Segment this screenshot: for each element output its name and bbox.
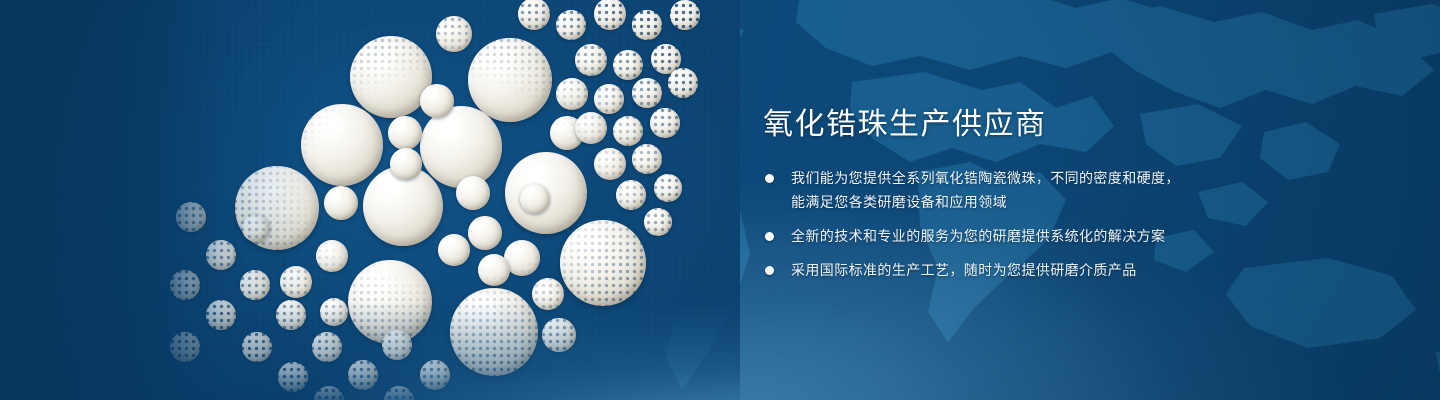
list-item-line: 采用国际标准的生产工艺，随时为您提供研磨介质产品	[791, 259, 1403, 282]
list-item-line: 我们能为您提供全系列氧化锆陶瓷微珠，不同的密度和硬度，	[791, 167, 1403, 190]
feature-list: 我们能为您提供全系列氧化锆陶瓷微珠，不同的密度和硬度， 能满足您各类研磨设备和应…	[763, 167, 1403, 282]
list-item: 全新的技术和专业的服务为您的研磨提供系统化的解决方案	[763, 225, 1403, 248]
banner-text-block: 氧化锆珠生产供应商 我们能为您提供全系列氧化锆陶瓷微珠，不同的密度和硬度， 能满…	[763, 108, 1403, 282]
bullet-dot-icon	[765, 232, 774, 241]
bullet-dot-icon	[765, 174, 774, 183]
list-item: 我们能为您提供全系列氧化锆陶瓷微珠，不同的密度和硬度， 能满足您各类研磨设备和应…	[763, 167, 1403, 214]
list-item: 采用国际标准的生产工艺，随时为您提供研磨介质产品	[763, 259, 1403, 282]
hero-banner: 氧化锆珠生产供应商 我们能为您提供全系列氧化锆陶瓷微珠，不同的密度和硬度， 能满…	[0, 0, 1440, 400]
halftone-dot-fade	[120, 0, 740, 400]
zirconia-beads-photo	[120, 0, 740, 400]
bullet-dot-icon	[765, 266, 774, 275]
list-item-line: 全新的技术和专业的服务为您的研磨提供系统化的解决方案	[791, 225, 1403, 248]
list-item-line: 能满足您各类研磨设备和应用领域	[791, 191, 1403, 214]
page-title: 氧化锆珠生产供应商	[763, 108, 1403, 141]
